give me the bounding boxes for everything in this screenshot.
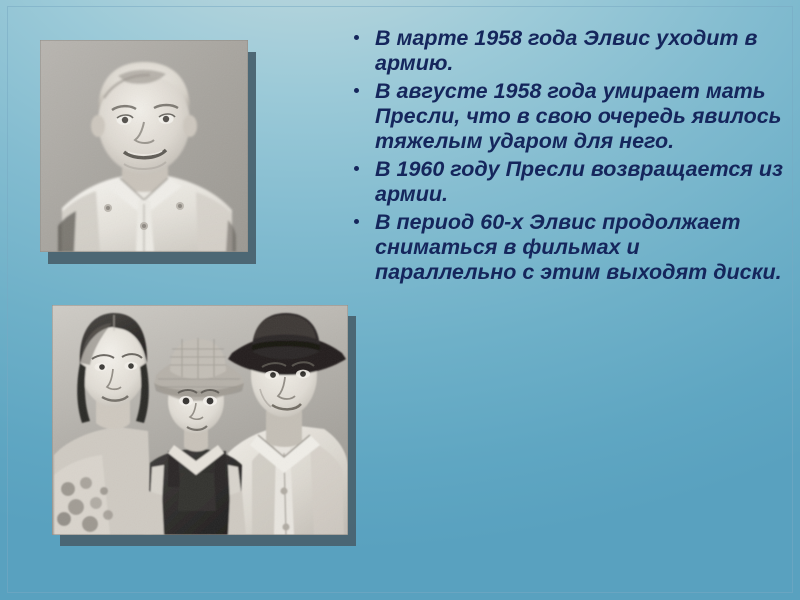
bullet-marker-icon — [354, 88, 359, 93]
bullet-text: В период 60-х Элвис продолжает сниматься… — [375, 210, 784, 285]
bullet-marker-icon — [354, 35, 359, 40]
bullet-text: В августе 1958 года умирает мать Пресли,… — [375, 79, 784, 154]
photo-young-elvis — [32, 34, 262, 270]
slide: В марте 1958 года Элвис уходит в армию. … — [0, 0, 800, 600]
photo-presley-family-image — [52, 305, 348, 535]
photo-presley-family — [44, 298, 366, 554]
list-item: В период 60-х Элвис продолжает сниматься… — [348, 210, 784, 285]
list-item: В августе 1958 года умирает мать Пресли,… — [348, 79, 784, 154]
bullet-marker-icon — [354, 166, 359, 171]
list-item: В 1960 году Пресли возвращается из армии… — [348, 157, 784, 207]
bullet-list: В марте 1958 года Элвис уходит в армию. … — [348, 26, 784, 288]
bullet-text: В марте 1958 года Элвис уходит в армию. — [375, 26, 784, 76]
photo-young-elvis-image — [40, 40, 248, 252]
bullet-marker-icon — [354, 219, 359, 224]
bullet-text: В 1960 году Пресли возвращается из армии… — [375, 157, 784, 207]
list-item: В марте 1958 года Элвис уходит в армию. — [348, 26, 784, 76]
